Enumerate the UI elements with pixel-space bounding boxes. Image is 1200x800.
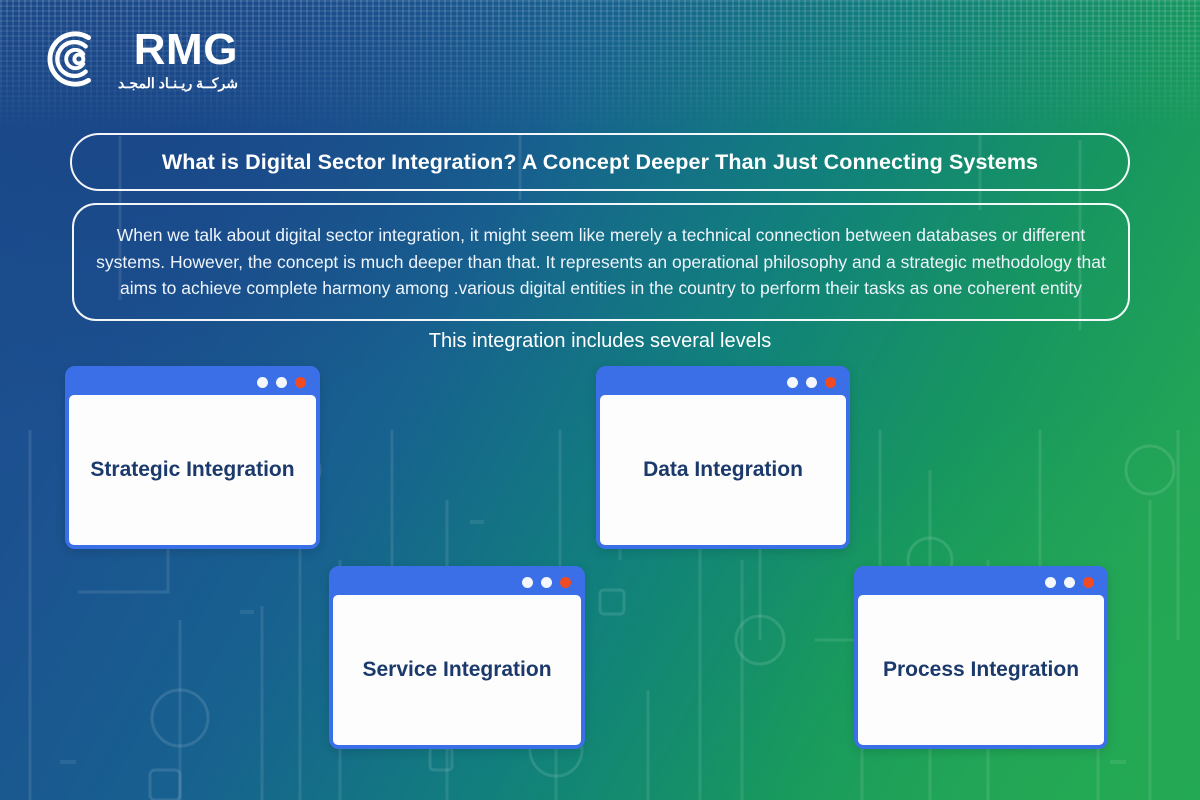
page-title: What is Digital Sector Integration? A Co… <box>162 150 1038 175</box>
brand-name: RMG <box>134 28 238 72</box>
card-service-integration[interactable]: Service Integration <box>329 566 585 749</box>
window-dot-red <box>1083 577 1094 588</box>
window-dot-red <box>295 377 306 388</box>
window-dot-white <box>522 577 533 588</box>
window-dot-white <box>541 577 552 588</box>
brand-logo: RMG شركــة ريـنـاد المجـد <box>44 28 238 90</box>
title-box: What is Digital Sector Integration? A Co… <box>70 133 1130 191</box>
section-subtitle: This integration includes several levels <box>0 330 1200 353</box>
card-label: Process Integration <box>883 655 1079 685</box>
infographic-canvas: RMG شركــة ريـنـاد المجـد What is Digita… <box>0 0 1200 800</box>
card-process-integration[interactable]: Process Integration <box>854 566 1108 749</box>
window-dot-white <box>1045 577 1056 588</box>
window-dot-red <box>825 377 836 388</box>
card-label: Service Integration <box>362 655 551 685</box>
window-titlebar <box>599 369 847 395</box>
window-dot-red <box>560 577 571 588</box>
window-titlebar <box>68 369 317 395</box>
card-body: Data Integration <box>600 395 846 545</box>
card-body: Process Integration <box>858 595 1104 745</box>
intro-paragraph: When we talk about digital sector integr… <box>90 222 1112 302</box>
window-dot-white <box>806 377 817 388</box>
rmg-spiral-logo-icon <box>44 28 106 90</box>
card-label: Strategic Integration <box>90 455 294 485</box>
card-label: Data Integration <box>643 455 803 485</box>
brand-arabic-name: شركــة ريـنـاد المجـد <box>118 76 238 90</box>
card-body: Service Integration <box>333 595 581 745</box>
window-dot-white <box>257 377 268 388</box>
intro-paragraph-box: When we talk about digital sector integr… <box>72 203 1130 321</box>
window-titlebar <box>857 569 1105 595</box>
brand-wordmark: RMG شركــة ريـنـاد المجـد <box>118 28 238 90</box>
card-strategic-integration[interactable]: Strategic Integration <box>65 366 320 549</box>
window-titlebar <box>332 569 582 595</box>
window-dot-white <box>276 377 287 388</box>
window-dot-white <box>787 377 798 388</box>
window-dot-white <box>1064 577 1075 588</box>
card-body: Strategic Integration <box>69 395 316 545</box>
card-data-integration[interactable]: Data Integration <box>596 366 850 549</box>
